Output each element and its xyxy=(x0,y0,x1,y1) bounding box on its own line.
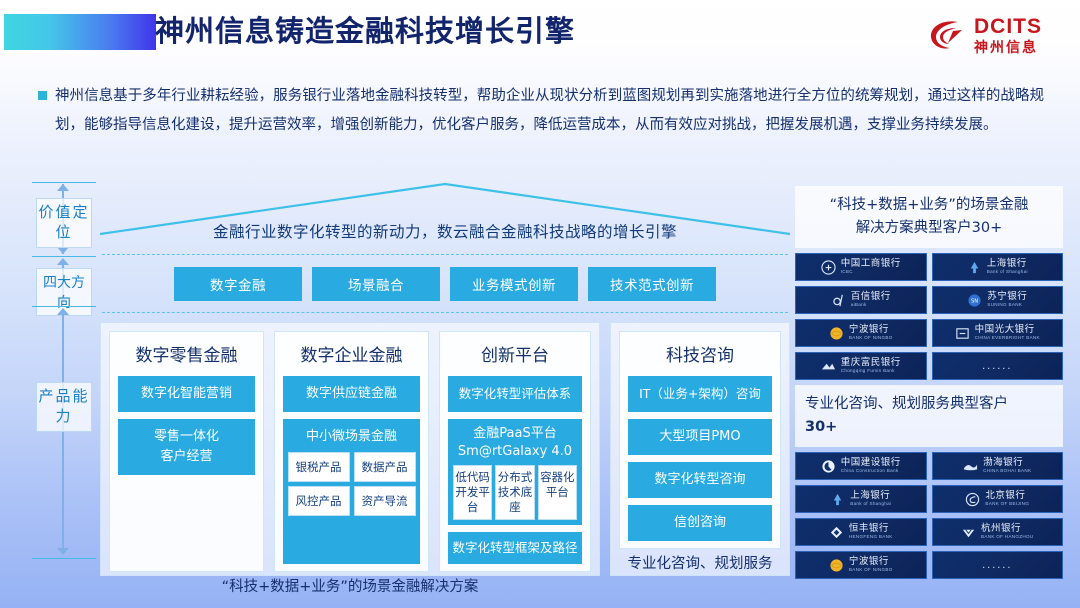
axis-label-value-positioning: 价值定位 xyxy=(36,198,92,248)
logo-label-cn: 中国光大银行 xyxy=(975,325,1040,335)
block-it-consulting[interactable]: IT（业务+架构）咨询 xyxy=(628,376,772,412)
logo-cell-bank-of-hangzhou[interactable]: 杭州银行 BANK OF HANGZHOU xyxy=(932,518,1064,546)
block-dx-assessment-system[interactable]: 数字化转型评估体系 xyxy=(448,376,582,412)
logo-cell-suning-bank[interactable]: SN 苏宁银行 SUNING BANK xyxy=(932,286,1064,314)
logo-label-cn: 重庆富民银行 xyxy=(841,358,901,368)
column-tech-consulting: 科技咨询 IT（业务+架构）咨询 大型项目PMO 数字化转型咨询 信创咨询 xyxy=(619,331,781,549)
page-title: 神州信息铸造金融科技增长引擎 xyxy=(155,8,575,56)
logo-cell-bank-of-shanghai-2[interactable]: 上海银行 Bank of Shanghai xyxy=(795,485,927,513)
block-retail-integrated-customer-ops[interactable]: 零售一体化 客户经营 xyxy=(118,419,255,475)
axis-label-product-capability: 产品能力 xyxy=(36,382,92,432)
subtag-data-product[interactable]: 数据产品 xyxy=(354,452,416,482)
logo-label-cn: 中国建设银行 xyxy=(841,458,901,468)
logo-label-en: BANK OF BEIJING xyxy=(985,502,1029,507)
block-xinchuang-consulting[interactable]: 信创咨询 xyxy=(628,505,772,541)
logo-text-en: DCITS xyxy=(974,16,1042,37)
customers-heading-2-line1: 专业化咨询、规划服务典型客户 xyxy=(805,393,1053,416)
logo-cell-more-1[interactable]: ...... xyxy=(932,352,1064,380)
column-digital-enterprise-finance: 数字企业金融 数字供应链金融 中小微场景金融 银税产品 数据产品 风控产品 资产… xyxy=(274,331,429,572)
direction-pill-0[interactable]: 数字金融 xyxy=(174,267,302,301)
bank-of-shanghai-icon xyxy=(967,260,982,275)
logo-cell-everbright-bank[interactable]: 中国光大银行 CHINA EVERBRIGHT BANK xyxy=(932,319,1064,347)
customer-logo-grid-2: 中国建设银行 China Construction Bank 渤海银行 CHIN… xyxy=(795,452,1063,579)
bohai-bank-icon xyxy=(963,459,978,474)
divider-bottom xyxy=(102,312,788,313)
bullet-square-icon xyxy=(38,91,47,100)
brand-logo: DCITS 神州信息 xyxy=(928,16,1042,54)
column-title: 科技咨询 xyxy=(628,339,772,369)
logo-label-cn: 苏宁银行 xyxy=(987,292,1027,302)
logo-label-cn: 宁波银行 xyxy=(849,557,893,567)
bank-of-shanghai-icon xyxy=(830,492,845,507)
logo-label-cn: 渤海银行 xyxy=(983,458,1031,468)
logo-label-en: BANK OF HANGZHOU xyxy=(981,535,1034,540)
intro-paragraph: 神州信息基于多年行业耕耘经验，服务银行业落地金融科技转型，帮助企业从现状分析到蓝… xyxy=(38,82,1044,140)
paas-cell-distributed-base[interactable]: 分布式技术底座 xyxy=(495,465,534,520)
logo-label-cn: 上海银行 xyxy=(850,491,891,501)
logo-label-cn: 杭州银行 xyxy=(981,524,1034,534)
ccb-icon xyxy=(821,459,836,474)
column-title: 数字零售金融 xyxy=(118,339,255,369)
intro-text: 神州信息基于多年行业耕耘经验，服务银行业落地金融科技转型，帮助企业从现状分析到蓝… xyxy=(55,82,1044,140)
paas-cells: 低代码开发平台 分布式技术底座 容器化平台 xyxy=(453,465,577,520)
bank-of-ningbo-icon xyxy=(829,326,844,341)
logo-cell-chongqing-fumin-bank[interactable]: 重庆富民银行 Chongqing Fumin Bank xyxy=(795,352,927,380)
caption-consulting: 专业化咨询、规划服务 xyxy=(619,549,781,576)
ellipsis-label: ...... xyxy=(982,559,1012,571)
block-large-project-pmo[interactable]: 大型项目PMO xyxy=(628,419,772,455)
logo-label-en: SUNING BANK xyxy=(987,303,1027,308)
block-dx-framework-path[interactable]: 数字化转型框架及路径 xyxy=(448,532,582,564)
direction-pill-2[interactable]: 业务模式创新 xyxy=(450,267,578,301)
logo-cell-ccb[interactable]: 中国建设银行 China Construction Bank xyxy=(795,452,927,480)
column-digital-retail-finance: 数字零售金融 数字化智能营销 零售一体化 客户经营 xyxy=(109,331,264,572)
block-financial-paas-platform[interactable]: 金融PaaS平台 Sm@rtGalaxy 4.0 低代码开发平台 分布式技术底座… xyxy=(448,419,582,525)
logo-cell-bohai-bank[interactable]: 渤海银行 CHINA BOHAI BANK xyxy=(932,452,1064,480)
customers-heading-2-line2: 30+ xyxy=(805,416,1053,439)
header-accent-bar xyxy=(4,14,156,50)
bank-of-ningbo-icon xyxy=(829,558,844,573)
subtag-risk-control-product[interactable]: 风控产品 xyxy=(288,486,350,516)
block-digital-smart-marketing[interactable]: 数字化智能营销 xyxy=(118,376,255,412)
customers-heading-1-line2: 解决方案典型客户30+ xyxy=(805,217,1053,240)
logo-cell-bank-of-ningbo-2[interactable]: 宁波银行 BANK OF NINGBO xyxy=(795,551,927,579)
logo-label-en: CHINA BOHAI BANK xyxy=(983,469,1031,474)
chongqing-fumin-bank-icon xyxy=(821,359,836,374)
sme-subtags: 银税产品 数据产品 风控产品 资产导流 xyxy=(285,452,418,516)
logo-cell-hengfeng-bank[interactable]: 恒丰银行 HENGFENG BANK xyxy=(795,518,927,546)
solution-panel: 数字零售金融 数字化智能营销 零售一体化 客户经营 数字企业金融 数字供应链金融… xyxy=(100,322,600,576)
customers-heading-1: “科技+数据+业务”的场景金融 解决方案典型客户30+ xyxy=(795,186,1063,248)
logo-label-en: Bank of Shanghai xyxy=(850,502,891,507)
logo-cell-aibank[interactable]: 百信银行 aiBank xyxy=(795,286,927,314)
column-innovation-platform: 创新平台 数字化转型评估体系 金融PaaS平台 Sm@rtGalaxy 4.0 … xyxy=(439,331,591,572)
svg-text:SN: SN xyxy=(971,298,978,304)
logo-label-en: Bank of Shanghai xyxy=(987,270,1028,275)
block-sme-scenario-finance[interactable]: 中小微场景金融 银税产品 数据产品 风控产品 资产导流 xyxy=(283,419,420,564)
logo-label-en: Chongqing Fumin Bank xyxy=(841,369,901,374)
caption-solution: “科技+数据+业务”的场景金融解决方案 xyxy=(109,572,591,599)
direction-pill-3[interactable]: 技术范式创新 xyxy=(588,267,716,301)
roof-text: 金融行业数字化转型的新动力，数云融合金融科技战略的增长引擎 xyxy=(100,220,790,242)
logo-label-en: BANK OF NINGBO xyxy=(849,568,893,573)
logo-label-cn: 中国工商银行 xyxy=(841,259,901,269)
paas-title-line1: 金融PaaS平台 xyxy=(453,425,577,443)
customers-heading-1-line1: “科技+数据+业务”的场景金融 xyxy=(805,194,1053,217)
bank-of-hangzhou-icon xyxy=(961,525,976,540)
subtag-tax-bank-product[interactable]: 银税产品 xyxy=(288,452,350,482)
direction-pill-1[interactable]: 场景融合 xyxy=(312,267,440,301)
suning-bank-icon: SN xyxy=(967,293,982,308)
block-digital-supply-chain-finance[interactable]: 数字供应链金融 xyxy=(283,376,420,412)
logo-label-cn: 北京银行 xyxy=(985,491,1029,501)
page-header: 神州信息铸造金融科技增长引擎 DCITS 神州信息 xyxy=(0,0,1080,70)
logo-label-cn: 宁波银行 xyxy=(849,325,893,335)
everbright-bank-icon xyxy=(955,326,970,341)
logo-label-en: China Construction Bank xyxy=(841,469,901,474)
bank-of-beijing-icon xyxy=(965,492,980,507)
logo-label-cn: 百信银行 xyxy=(851,292,891,302)
logo-cell-bank-of-shanghai[interactable]: 上海银行 Bank of Shanghai xyxy=(932,253,1064,281)
logo-label-en: aiBank xyxy=(851,303,891,308)
logo-text-cn: 神州信息 xyxy=(974,40,1042,54)
customers-heading-2: 专业化咨询、规划服务典型客户 30+ xyxy=(795,385,1063,447)
logo-cell-icbc[interactable]: 中国工商银行 ICBC xyxy=(795,253,927,281)
logo-label-en: BANK OF NINGBO xyxy=(849,336,893,341)
paas-cell-lowcode[interactable]: 低代码开发平台 xyxy=(453,465,492,520)
framework-diagram: 金融行业数字化转型的新动力，数云融合金融科技战略的增长引擎 数字金融 场景融合 … xyxy=(100,182,790,562)
logo-label-cn: 上海银行 xyxy=(987,259,1028,269)
aibank-icon xyxy=(831,293,846,308)
logo-label-en: CHINA EVERBRIGHT BANK xyxy=(975,336,1040,341)
logo-cell-more-2[interactable]: ...... xyxy=(932,551,1064,579)
logo-cell-bank-of-ningbo[interactable]: 宁波银行 BANK OF NINGBO xyxy=(795,319,927,347)
icbc-icon xyxy=(821,260,836,275)
logo-label-cn: 恒丰银行 xyxy=(849,524,893,534)
paas-title-line2: Sm@rtGalaxy 4.0 xyxy=(453,443,577,461)
column-title: 数字企业金融 xyxy=(283,339,420,369)
paas-cell-container-platform[interactable]: 容器化平台 xyxy=(538,465,577,520)
subtag-asset-routing[interactable]: 资产导流 xyxy=(354,486,416,516)
directions-row: 数字金融 场景融合 业务模式创新 技术范式创新 xyxy=(100,255,790,312)
left-axis: 价值定位 四大方向 产品能力 xyxy=(28,182,100,560)
logo-label-en: HENGFENG BANK xyxy=(849,535,893,540)
roof-peak-icon xyxy=(100,182,790,254)
consulting-panel: 科技咨询 IT（业务+架构）咨询 大型项目PMO 数字化转型咨询 信创咨询 专业… xyxy=(610,322,790,576)
customer-logo-grid-1: 中国工商银行 ICBC 上海银行 Bank of Shanghai 百信银行 a… xyxy=(795,253,1063,380)
customers-panel: “科技+数据+业务”的场景金融 解决方案典型客户30+ 中国工商银行 ICBC … xyxy=(795,186,1063,562)
block-dx-consulting[interactable]: 数字化转型咨询 xyxy=(628,462,772,498)
hengfeng-bank-icon xyxy=(829,525,844,540)
column-title: 创新平台 xyxy=(448,339,582,369)
dcits-swoosh-icon xyxy=(928,17,968,53)
ellipsis-label: ...... xyxy=(982,360,1012,372)
roof-banner: 金融行业数字化转型的新动力，数云融合金融科技战略的增长引擎 xyxy=(100,182,790,254)
logo-cell-bank-of-beijing[interactable]: 北京银行 BANK OF BEIJING xyxy=(932,485,1064,513)
logo-label-en: ICBC xyxy=(841,270,901,275)
